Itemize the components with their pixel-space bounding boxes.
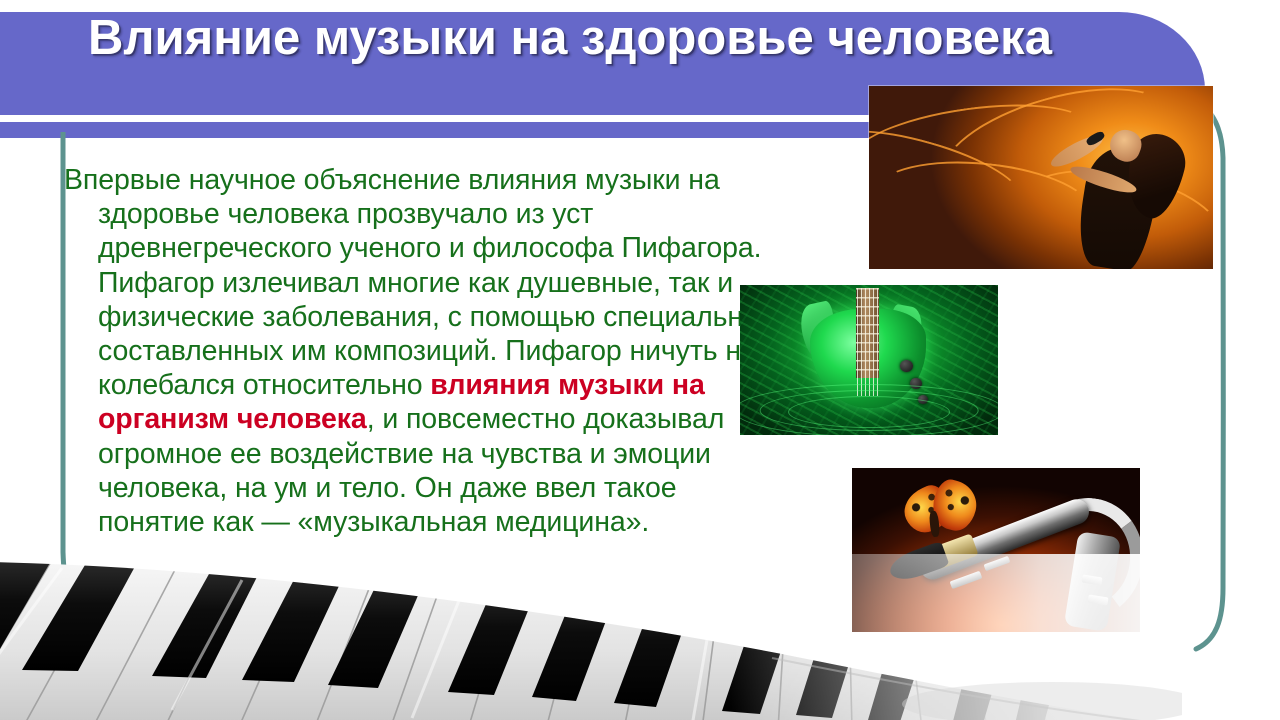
presentation-slide: Влияние музыки на здоровье человека Впер… bbox=[0, 0, 1280, 720]
singer-photo: Певица с микрофоном на оранжевом фоне bbox=[869, 86, 1213, 269]
piano-keys-photo bbox=[0, 554, 1182, 720]
guitar-knob bbox=[900, 360, 913, 372]
body-paragraph: Впервые научное объяснение влияния музык… bbox=[64, 163, 778, 539]
guitar-photo-background bbox=[740, 285, 998, 435]
water-ripple bbox=[740, 384, 998, 435]
guitar-photo: Зелёная электрогитара на воде bbox=[740, 285, 998, 435]
slide-title: Влияние музыки на здоровье человека bbox=[0, 10, 1140, 67]
guitar-strings bbox=[857, 288, 878, 396]
singer-photo-background bbox=[869, 86, 1213, 269]
body-text-part-1: Впервые научное объяснение влияния музык… bbox=[64, 164, 762, 401]
